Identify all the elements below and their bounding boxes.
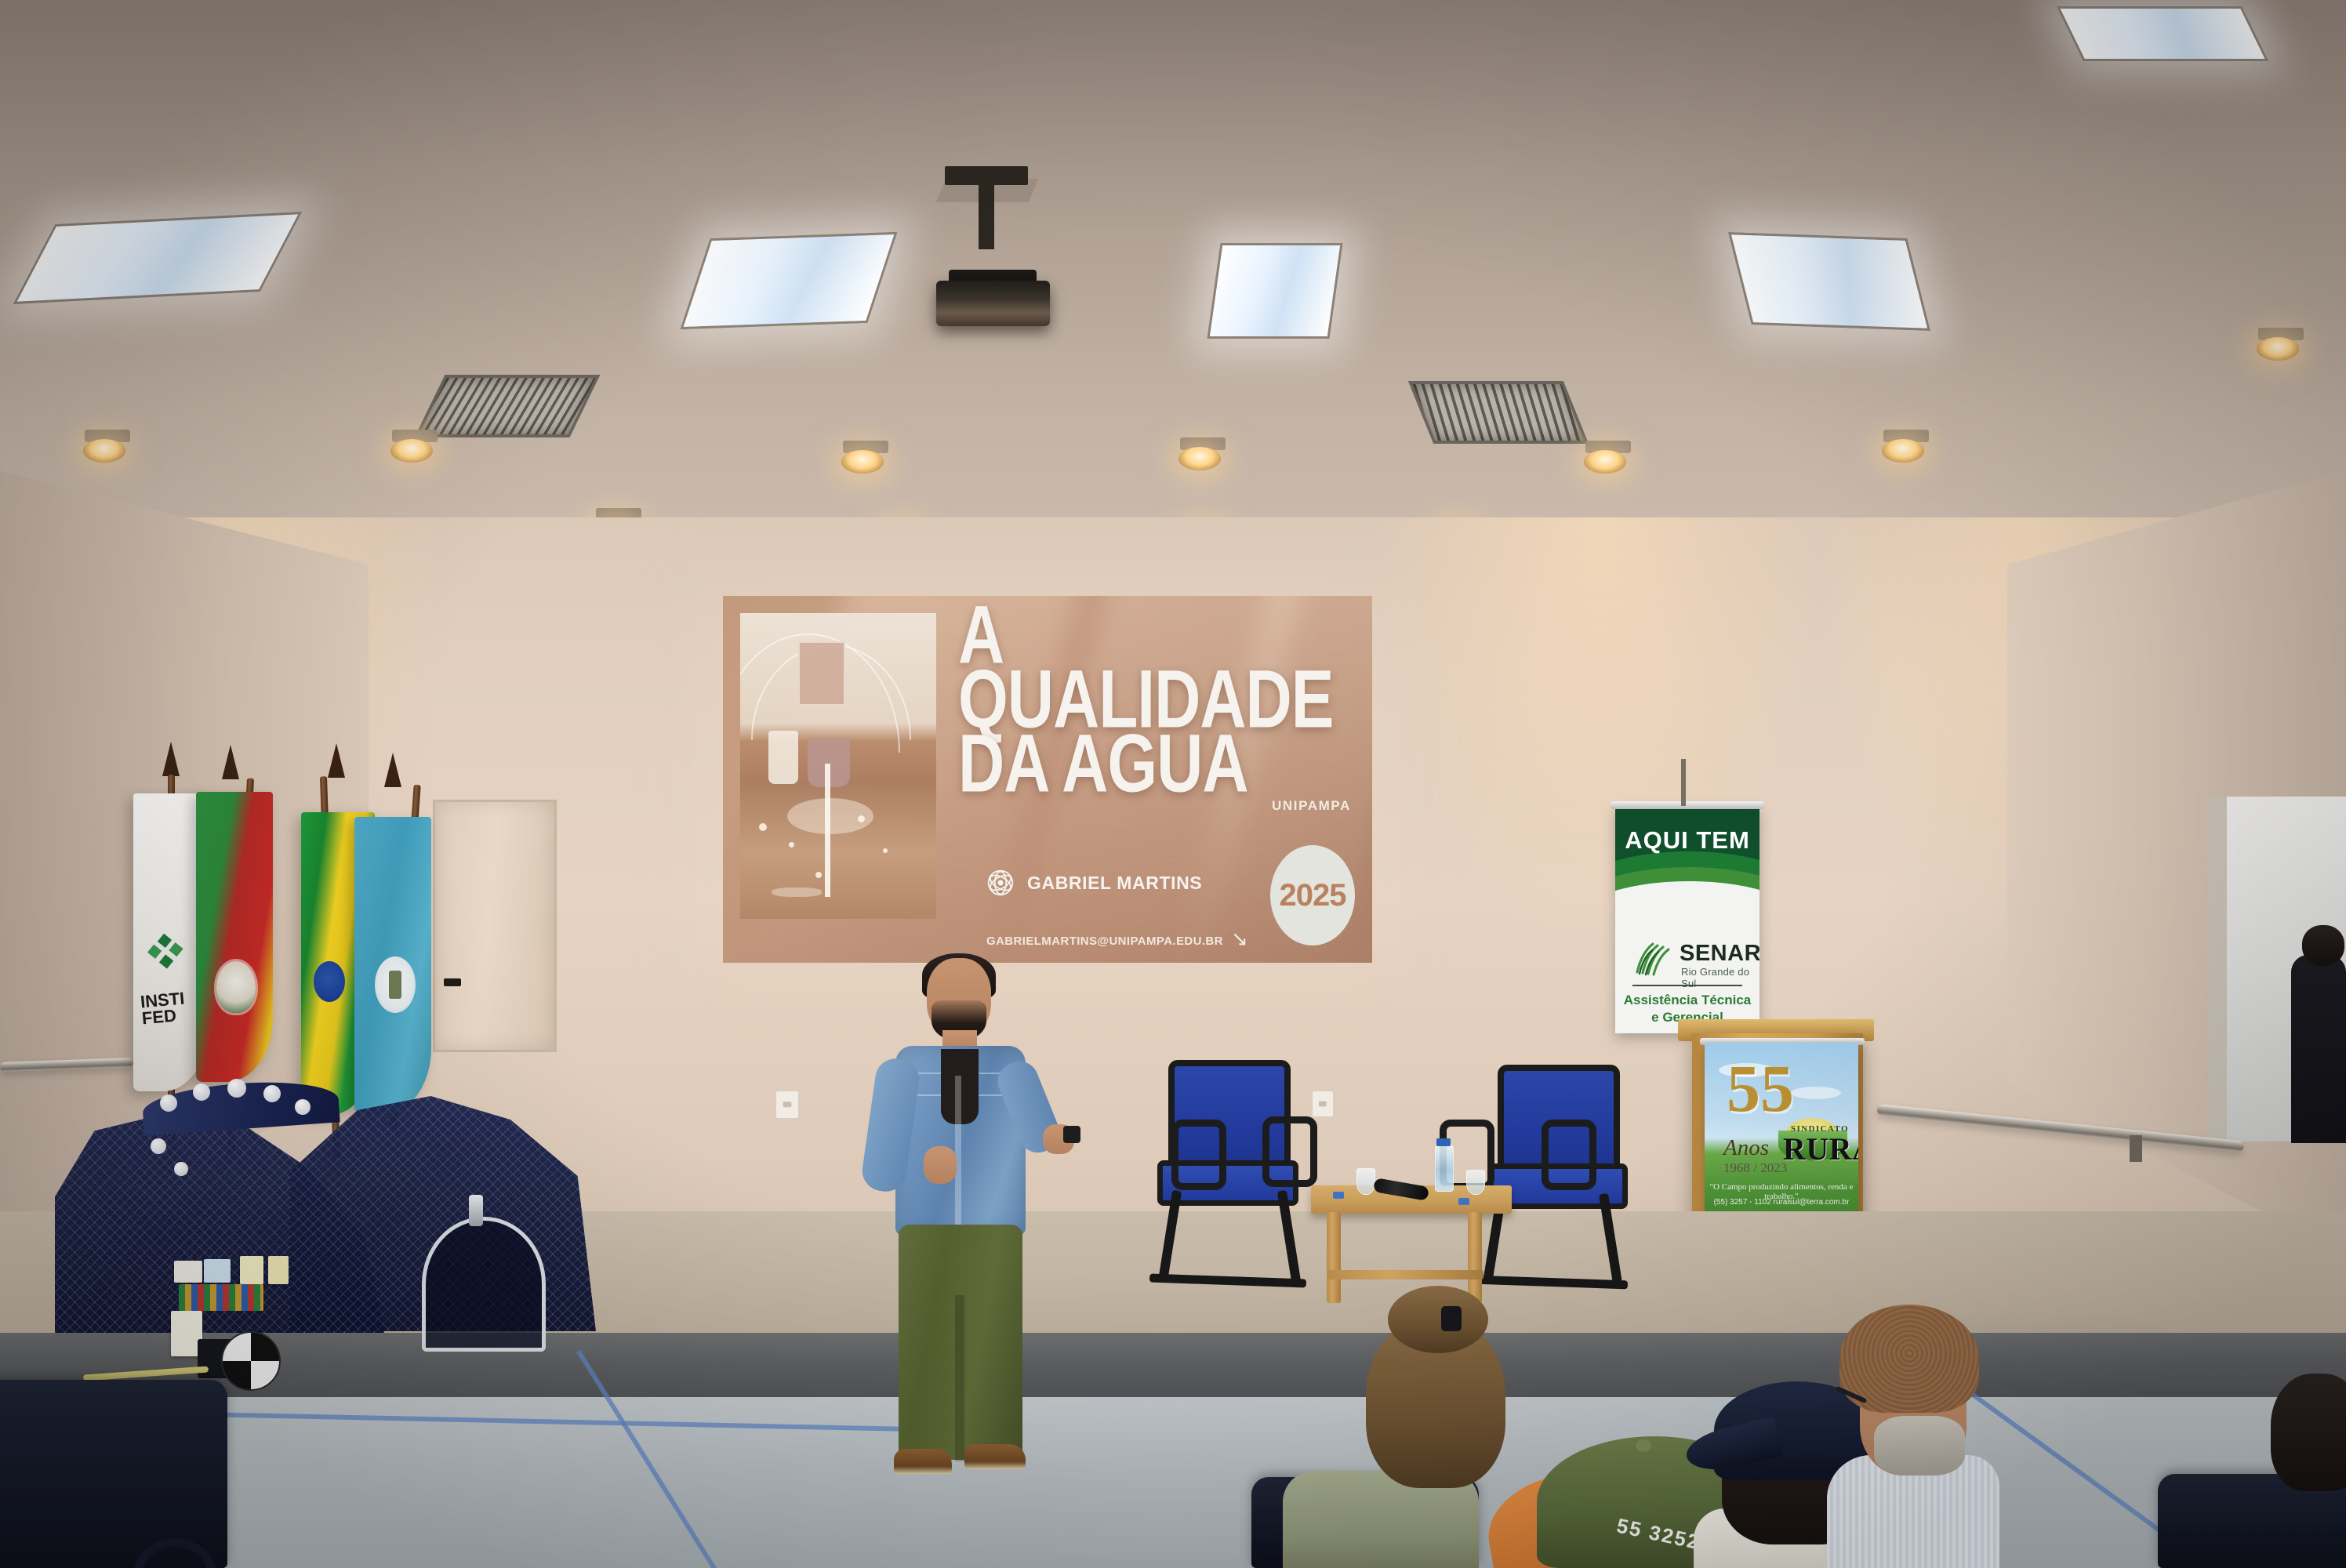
podium-banner-years: 1968 / 2023 — [1723, 1160, 1787, 1176]
slide-year-label: 2025 — [1280, 878, 1346, 913]
senar-divider — [1632, 985, 1742, 986]
equipment-exhibit — [55, 1051, 596, 1380]
net-float — [295, 1099, 310, 1115]
door-left[interactable] — [433, 800, 557, 1052]
projector-mount-arm — [979, 174, 994, 249]
test-kit-box — [240, 1256, 263, 1284]
atom-rings-logo-icon — [986, 869, 1015, 897]
ceiling-projector — [936, 281, 1050, 326]
presenter-shirt-placket — [955, 1076, 961, 1232]
flag-finial — [222, 745, 239, 779]
stage-table-leg — [1327, 1212, 1341, 1303]
net-float — [263, 1085, 281, 1102]
slide-author-row: GABRIEL MARTINS — [986, 869, 1202, 897]
slide-year-badge: 2025 — [1270, 845, 1355, 946]
banner-pole — [1681, 759, 1686, 806]
person-in-doorway — [2291, 955, 2346, 1143]
wall-socket — [775, 1090, 800, 1120]
dip-net — [422, 1217, 546, 1352]
projected-slide: A QUALIDADE DA AGUA UNIPAMPA GABRIEL MAR… — [723, 596, 1372, 963]
audience-chair[interactable] — [0, 1380, 227, 1568]
hvac-vent — [1408, 381, 1589, 444]
slide-organization: UNIPAMPA — [1272, 798, 1351, 814]
stage-table-leg — [1468, 1212, 1482, 1303]
senar-headline: AQUI TEM — [1615, 826, 1759, 855]
fluorescent-panel — [1207, 243, 1342, 339]
water-bottle[interactable] — [1435, 1145, 1454, 1192]
stage-chair-left-arm — [1262, 1116, 1317, 1187]
flag-brasil-globe — [314, 961, 345, 1002]
stage-chair-left-arm — [1171, 1120, 1226, 1190]
arrow-down-right-icon: ↘ — [1231, 928, 1248, 949]
net-float — [160, 1094, 177, 1112]
flag-municipal-emblem-center — [389, 971, 401, 999]
blue-cap-item — [1333, 1192, 1344, 1199]
test-kit-box — [204, 1259, 231, 1283]
net-float — [227, 1079, 246, 1098]
dip-net-handle — [469, 1195, 483, 1226]
presenter — [855, 958, 1066, 1499]
flag-finial — [328, 743, 345, 778]
flag-rio-grande-do-sul — [196, 792, 273, 1082]
hair-clip-icon — [1441, 1306, 1462, 1331]
fluorescent-panel — [2057, 6, 2268, 61]
podium-banner-union-main: RURAL — [1783, 1131, 1858, 1167]
senar-brand: SENAR — [1680, 941, 1759, 967]
blue-cap-item — [1458, 1198, 1469, 1205]
wall-socket — [1311, 1090, 1335, 1118]
audience-person-hair — [1874, 1416, 1965, 1475]
podium-banner-number: 55 — [1727, 1060, 1794, 1117]
net-float — [174, 1162, 188, 1176]
downlight — [1584, 450, 1626, 474]
handrail-bracket — [2130, 1135, 2142, 1162]
presenter-left-hand — [924, 1146, 957, 1184]
slide-author-name: GABRIEL MARTINS — [1027, 873, 1202, 894]
test-kit-box — [174, 1261, 202, 1283]
drinking-glass[interactable] — [1466, 1170, 1485, 1195]
audience-hair-bun — [1388, 1286, 1488, 1353]
cap-button-icon — [1636, 1439, 1651, 1452]
secchi-disk — [221, 1331, 281, 1391]
fluorescent-panel — [13, 212, 302, 304]
slide-title: A QUALIDADE DA AGUA — [958, 604, 1327, 797]
audience-person-head — [2271, 1374, 2346, 1491]
downlight — [390, 439, 433, 463]
banner-rod-top — [1611, 801, 1764, 809]
slide-photo — [740, 613, 936, 919]
podium-banner-contact: (55) 3257 - 1102 ruralsul@terra.com.br — [1709, 1198, 1854, 1207]
senar-tagline-line-1: Assistência Técnica — [1615, 993, 1759, 1008]
presenter-shoe — [894, 1449, 952, 1474]
presentation-clicker[interactable] — [1063, 1126, 1080, 1143]
net-float — [151, 1138, 166, 1154]
flag-instituto-federal-text: INSTI FED — [140, 991, 187, 1028]
door-handle-icon[interactable] — [444, 978, 461, 986]
reagent-bottles — [179, 1284, 263, 1311]
fluorescent-panel — [1728, 232, 1930, 331]
senar-logo-icon — [1632, 941, 1673, 977]
downlight — [1882, 439, 1924, 463]
auditorium-photo-scene: A QUALIDADE DA AGUA UNIPAMPA GABRIEL MAR… — [0, 0, 2346, 1568]
fluorescent-panel — [680, 232, 897, 329]
slide-email: GABRIELMARTINS@UNIPAMPA.EDU.BR — [986, 935, 1223, 948]
banner-cloud — [1791, 1087, 1841, 1099]
presenter-trouser-gap — [955, 1295, 964, 1461]
downlight — [83, 439, 125, 463]
flag-rs-emblem — [216, 961, 256, 1013]
downlight — [841, 450, 884, 474]
downlight — [2257, 337, 2299, 361]
downlight — [1178, 447, 1221, 470]
podium-banner-anos: Anos — [1723, 1135, 1769, 1161]
hvac-vent — [414, 375, 600, 437]
flag-finial — [384, 753, 401, 787]
ceiling-surface — [0, 0, 2346, 549]
stage-chair-right-arm — [1542, 1120, 1596, 1190]
presenter-shoe — [964, 1444, 1026, 1469]
drinking-glass[interactable] — [1356, 1168, 1375, 1195]
net-float — [193, 1083, 210, 1101]
stage-table-stretcher — [1327, 1270, 1483, 1279]
bottle-cap — [1436, 1138, 1451, 1146]
test-kit-box — [268, 1256, 289, 1284]
person-in-doorway-head — [2302, 925, 2344, 966]
doorway-right-jamb — [2208, 797, 2227, 1142]
measuring-tape — [83, 1366, 209, 1381]
senar-banner: AQUI TEM SENAR Rio Grande do Sul Assistê… — [1615, 806, 1759, 1033]
flag-finial — [162, 742, 180, 776]
